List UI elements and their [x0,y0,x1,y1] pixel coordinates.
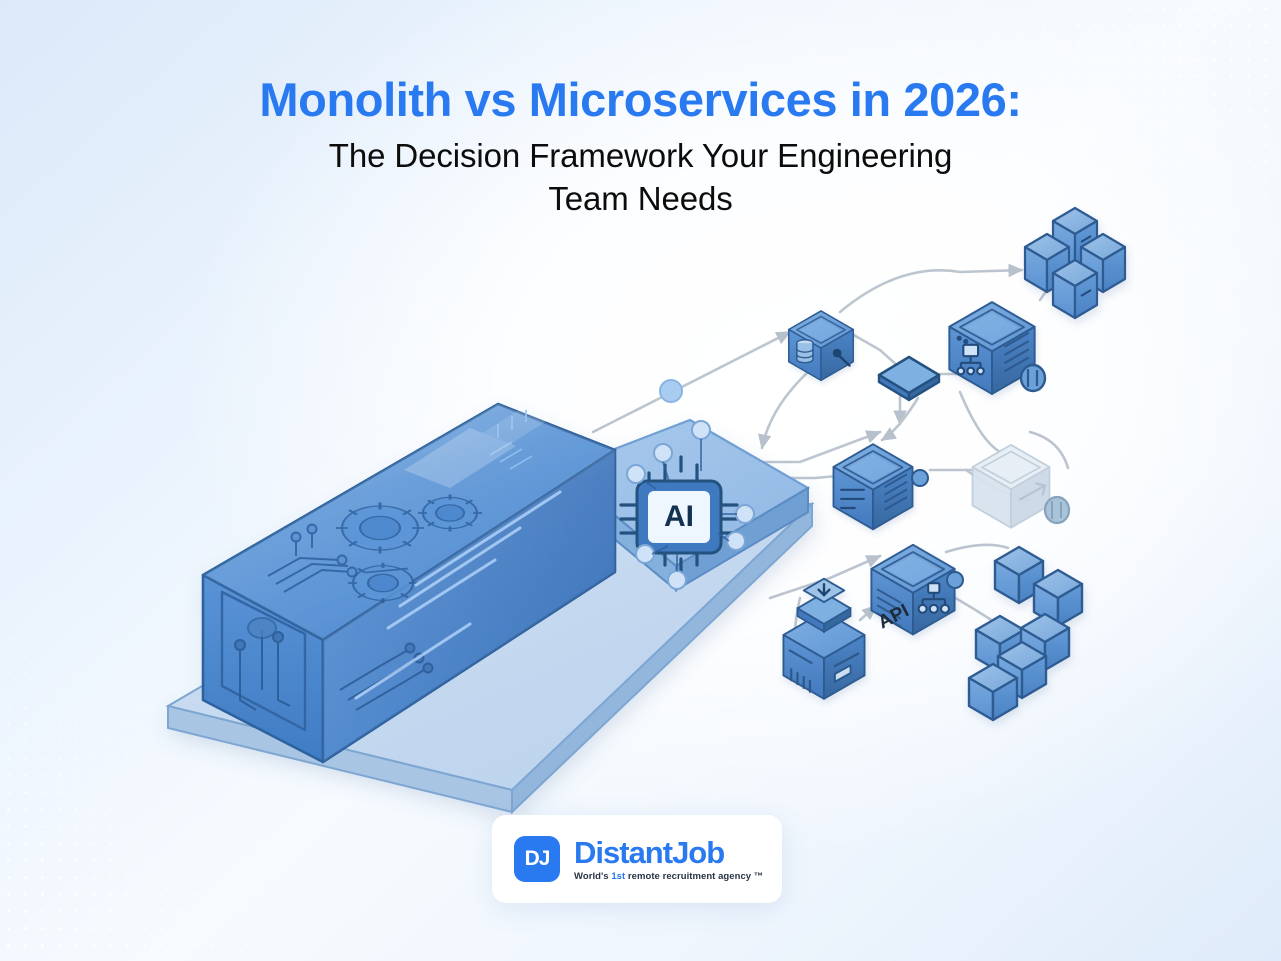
page-subtitle: The Decision Framework Your Engineering … [0,135,1281,221]
service-tree-port [947,572,963,588]
logo-tagline: World's 1st remote recruitment agency ™ [574,872,763,882]
cube-cluster-top-right [1025,208,1125,318]
connector-node-to-cube-mid [946,545,1008,552]
monolith-group [168,404,812,812]
database-node [789,311,853,380]
ghost-plug-dot [1045,497,1069,523]
server-plug-dot [1021,365,1045,391]
connector-monolith-to-database [593,332,790,432]
distantjob-logo-card[interactable]: DJ DistantJob World's 1st remote recruit… [492,815,782,903]
deploy-node [783,579,864,699]
page-subtitle-line-2: Team Needs [0,178,1281,221]
logo-wordmark: DistantJob [574,837,763,868]
database-cylinder-icon [797,340,813,363]
logo-text-wrap: DistantJob World's 1st remote recruitmen… [574,837,763,882]
service-logs-port [912,470,928,486]
logo-tagline-pre: World's [574,871,611,882]
cube-cluster-mid-right [995,547,1082,626]
ai-chip-label: AI [664,500,694,533]
connector-ai-to-ghost [960,392,1000,452]
logo-tagline-post: remote recruitment agency ™ [625,871,763,882]
dj-logo-mark-text: DJ [525,847,550,871]
connector-down-left-1 [762,372,808,448]
ghost-service-node [973,445,1050,528]
logo-tagline-highlight: 1st [611,871,625,882]
heading-block: Monolith vs Microservices in 2026: The D… [0,74,1281,220]
service-node-logs [833,444,912,529]
connector-dot-upper [660,380,682,402]
dj-logo-mark-icon: DJ [514,836,560,882]
cube-cluster-bottom-right [969,614,1069,720]
page-subtitle-line-1: The Decision Framework Your Engineering [0,135,1281,178]
page-title: Monolith vs Microservices in 2026: [0,74,1281,127]
